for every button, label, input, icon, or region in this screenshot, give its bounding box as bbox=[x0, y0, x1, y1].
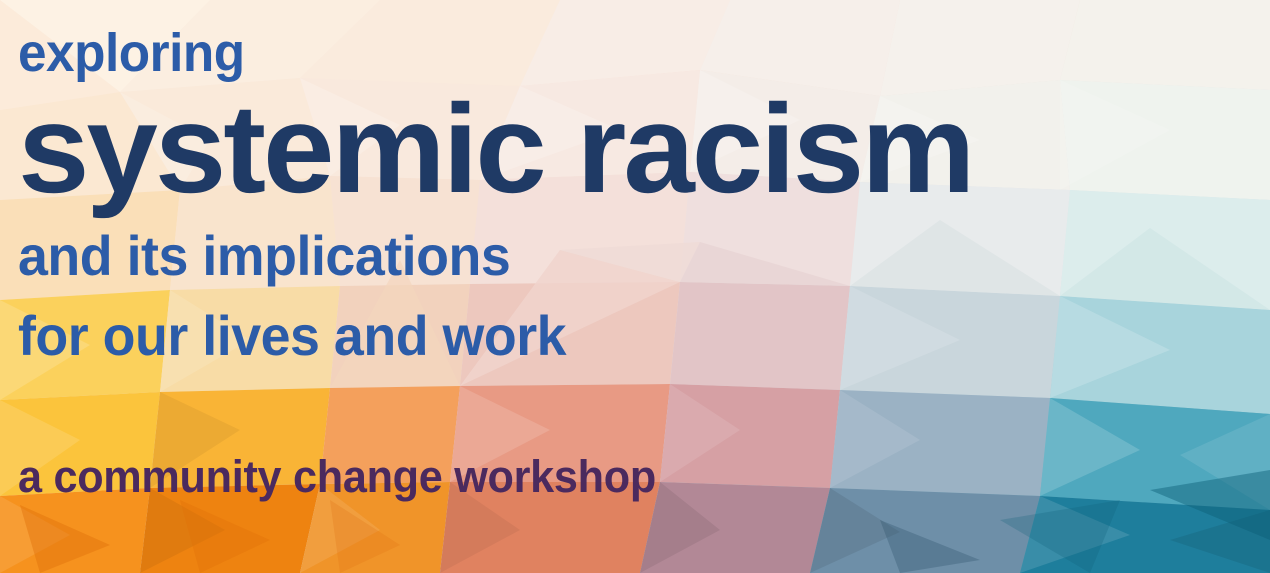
main-headline: systemic racism bbox=[18, 86, 972, 212]
headline-text-block: exploring systemic racism and its implic… bbox=[0, 0, 1270, 573]
subheadline-line-1: and its implications bbox=[18, 228, 510, 284]
eyebrow-text: exploring bbox=[18, 26, 245, 80]
poster-banner: exploring systemic racism and its implic… bbox=[0, 0, 1270, 573]
subheadline-line-2: for our lives and work bbox=[18, 308, 566, 364]
tagline-text: a community change workshop bbox=[18, 454, 656, 499]
